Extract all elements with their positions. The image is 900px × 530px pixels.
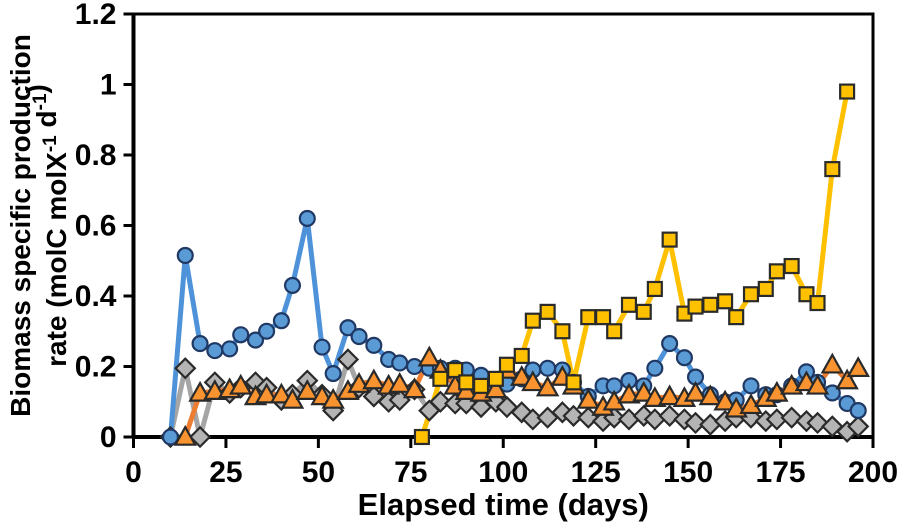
data-point [222,341,237,356]
data-point [647,361,662,376]
data-point [433,372,447,386]
data-point [567,375,581,389]
data-point [541,305,555,319]
data-point [622,298,636,312]
data-point [540,361,555,376]
x-tick-label: 75 [394,456,427,489]
data-point [233,327,248,342]
data-point [759,282,773,296]
data-point [326,366,341,381]
x-axis-tick-labels: 0255075100125150175200 [125,456,898,489]
data-point [729,310,743,324]
data-point [663,233,677,247]
data-point [489,372,503,386]
data-point [392,356,407,371]
data-point [581,310,595,324]
data-point [300,211,315,226]
data-point [785,259,799,273]
data-point [811,296,825,310]
chart-canvas: 00.20.40.60.811.2 0255075100125150175200… [0,0,900,530]
data-point [770,264,784,278]
data-point [315,340,330,355]
y-axis-title: Biomass specific productionrate (molC mo… [5,34,72,417]
x-tick-label: 125 [571,456,621,489]
data-point [366,338,381,353]
data-point [744,378,759,393]
data-point [677,350,692,365]
x-tick-label: 175 [756,456,806,489]
data-point [285,278,300,293]
data-point [178,248,193,263]
y-tick-label: 0.4 [75,280,117,313]
data-point [415,430,429,444]
y-tick-label: 1.2 [75,0,117,31]
y-tick-label: 0.8 [75,139,117,172]
data-point [607,324,621,338]
data-point [851,403,866,418]
x-axis-title-text: Elapsed time (days) [358,487,649,522]
data-point [515,349,529,363]
data-point [207,343,222,358]
data-point [352,329,367,344]
data-point [662,336,677,351]
y-axis-tick-labels: 00.20.40.60.811.2 [75,0,117,454]
x-tick-label: 50 [302,456,335,489]
data-point [744,287,758,301]
data-point [407,359,422,374]
data-point [259,324,274,339]
x-tick-label: 100 [478,456,528,489]
data-point [840,85,854,99]
data-point [825,162,839,176]
x-tick-label: 0 [125,456,142,489]
data-point [526,314,540,328]
y-tick-label: 0 [100,421,117,454]
x-axis-title: Elapsed time (days) [358,487,649,522]
y-tick-label: 1 [100,69,117,102]
x-tick-label: 150 [663,456,713,489]
data-point [459,375,473,389]
data-point [718,294,732,308]
chart-figure: 00.20.40.60.811.2 0255075100125150175200… [0,0,900,530]
data-point [474,379,488,393]
y-tick-label: 0.2 [75,351,117,384]
data-point [637,305,651,319]
data-point [648,282,662,296]
data-point [596,310,610,324]
data-point [689,300,703,314]
data-point [500,358,514,372]
data-point [274,313,289,328]
x-tick-label: 25 [209,456,242,489]
data-point [555,324,569,338]
data-point [193,336,208,351]
x-tick-label: 200 [848,456,898,489]
data-point [703,298,717,312]
y-tick-label: 0.6 [75,210,117,243]
